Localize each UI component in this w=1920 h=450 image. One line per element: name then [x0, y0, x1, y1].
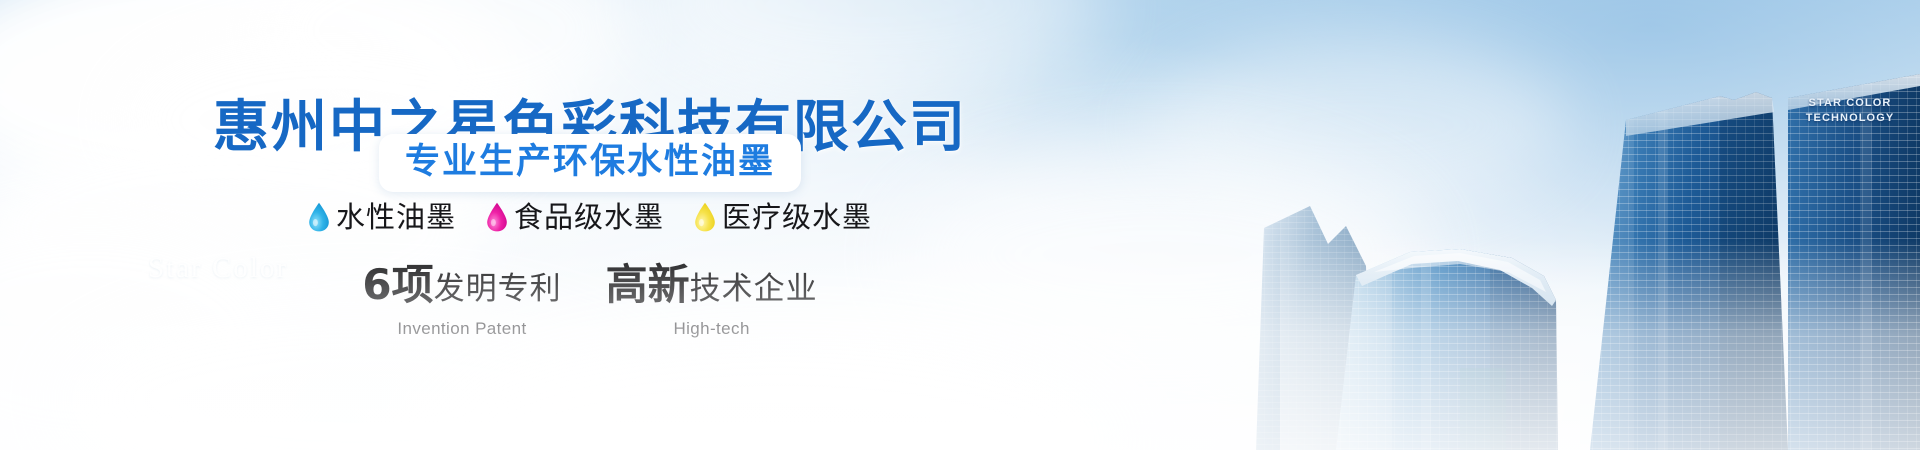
feature-label: 食品级水墨 — [514, 200, 664, 234]
list-item: 医疗级水墨 — [694, 200, 872, 234]
water-drop-icon — [694, 202, 716, 232]
feature-label: 水性油墨 — [336, 200, 456, 234]
feature-label: 医疗级水墨 — [722, 200, 872, 234]
bottom-haze — [0, 240, 1920, 450]
water-drop-icon — [486, 202, 508, 232]
hero-banner: Star Color — [0, 0, 1920, 450]
feature-list: 水性油墨 — [0, 200, 1180, 234]
list-item: 水性油墨 — [308, 200, 456, 234]
water-drop-icon — [308, 202, 330, 232]
subtitle-pill: 专业生产环保水性油墨 — [379, 134, 801, 192]
list-item: 食品级水墨 — [486, 200, 664, 234]
subtitle-row: 专业生产环保水性油墨 — [0, 134, 1180, 192]
